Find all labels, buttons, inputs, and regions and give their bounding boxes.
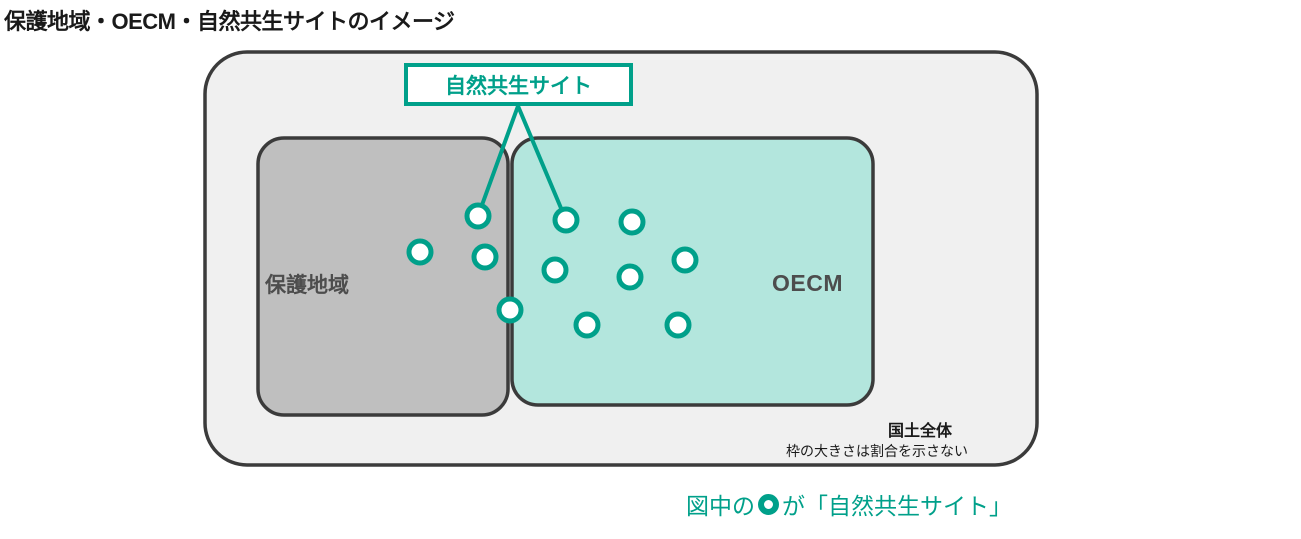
site-marker (576, 314, 598, 336)
region-protected-area (258, 138, 508, 415)
legend-caption: 図中の が「自然共生サイト」 (686, 487, 1012, 521)
site-marker (544, 259, 566, 281)
site-marker (409, 241, 431, 263)
site-marker (467, 205, 489, 227)
site-marker (667, 314, 689, 336)
site-marker (555, 209, 577, 231)
caption-prefix: 図中の (686, 487, 755, 521)
region-diagram (0, 0, 1301, 539)
site-ring-icon (758, 494, 779, 515)
site-marker (674, 249, 696, 271)
site-marker (474, 246, 496, 268)
site-marker (621, 211, 643, 233)
caption-suffix: が「自然共生サイト」 (782, 487, 1012, 521)
site-marker (619, 266, 641, 288)
site-marker (499, 299, 521, 321)
